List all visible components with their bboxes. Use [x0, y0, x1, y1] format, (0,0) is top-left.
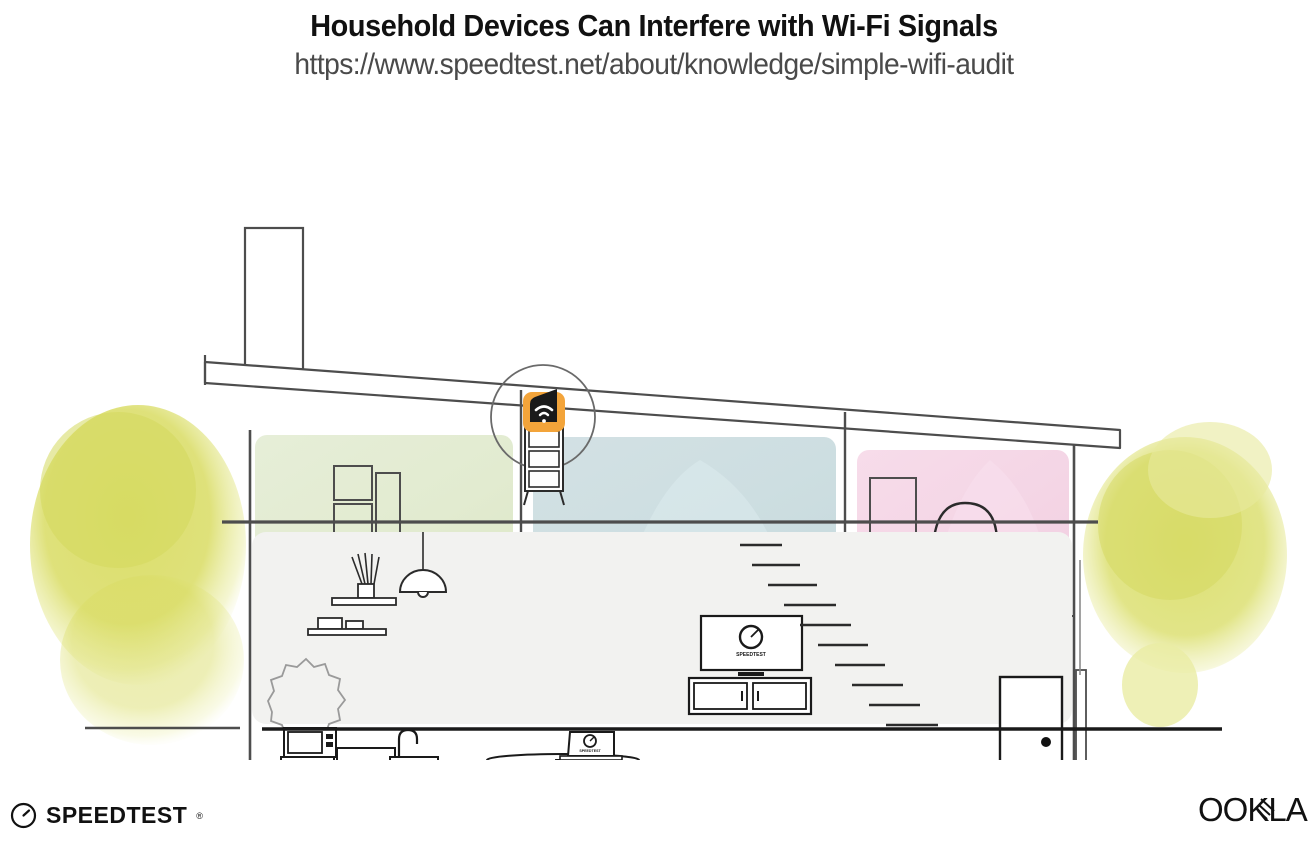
sink-faucet-icon [399, 730, 417, 757]
laptop-screen-label: SPEEDTEST [579, 749, 601, 753]
laptop[interactable]: SPEEDTEST [560, 732, 622, 760]
speedtest-trademark: ® [196, 811, 203, 821]
tv-screen-label: SPEEDTEST [736, 652, 766, 658]
door-side-panel [1076, 670, 1086, 760]
chimney [245, 228, 303, 380]
tv: SPEEDTEST [701, 616, 802, 676]
speedtest-logo: SPEEDTEST ® [10, 802, 203, 829]
page-title: Household Devices Can Interfere with Wi-… [46, 8, 1262, 44]
wifi-router-icon[interactable] [523, 389, 565, 432]
house-cutaway-illustration: SPEEDTEST [0, 100, 1308, 760]
infographic-page: Household Devices Can Interfere with Wi-… [0, 0, 1308, 861]
ookla-text: OOKLA [1198, 791, 1308, 828]
slanted-roof-slab [205, 355, 1120, 448]
front-door[interactable] [1000, 677, 1062, 760]
source-url: https://www.speedtest.net/about/knowledg… [39, 48, 1269, 82]
speedtest-wordmark: SPEEDTEST [46, 802, 187, 829]
media-console [689, 678, 811, 714]
tree-right [1083, 422, 1287, 727]
ookla-logo: OOKLA [1198, 791, 1308, 831]
wall-shelf-upper [332, 598, 396, 605]
living-kitchen-gray: SPEEDTEST [252, 532, 1072, 760]
door-knob-icon[interactable] [1041, 737, 1051, 747]
header: Household Devices Can Interfere with Wi-… [0, 0, 1308, 82]
ookla-wordmark: OOKLA [1198, 791, 1308, 831]
footer: SPEEDTEST ® OOKLA [0, 761, 1308, 861]
speedtest-gauge-icon [10, 802, 37, 829]
microwave [284, 728, 336, 757]
bush-left [30, 405, 246, 745]
